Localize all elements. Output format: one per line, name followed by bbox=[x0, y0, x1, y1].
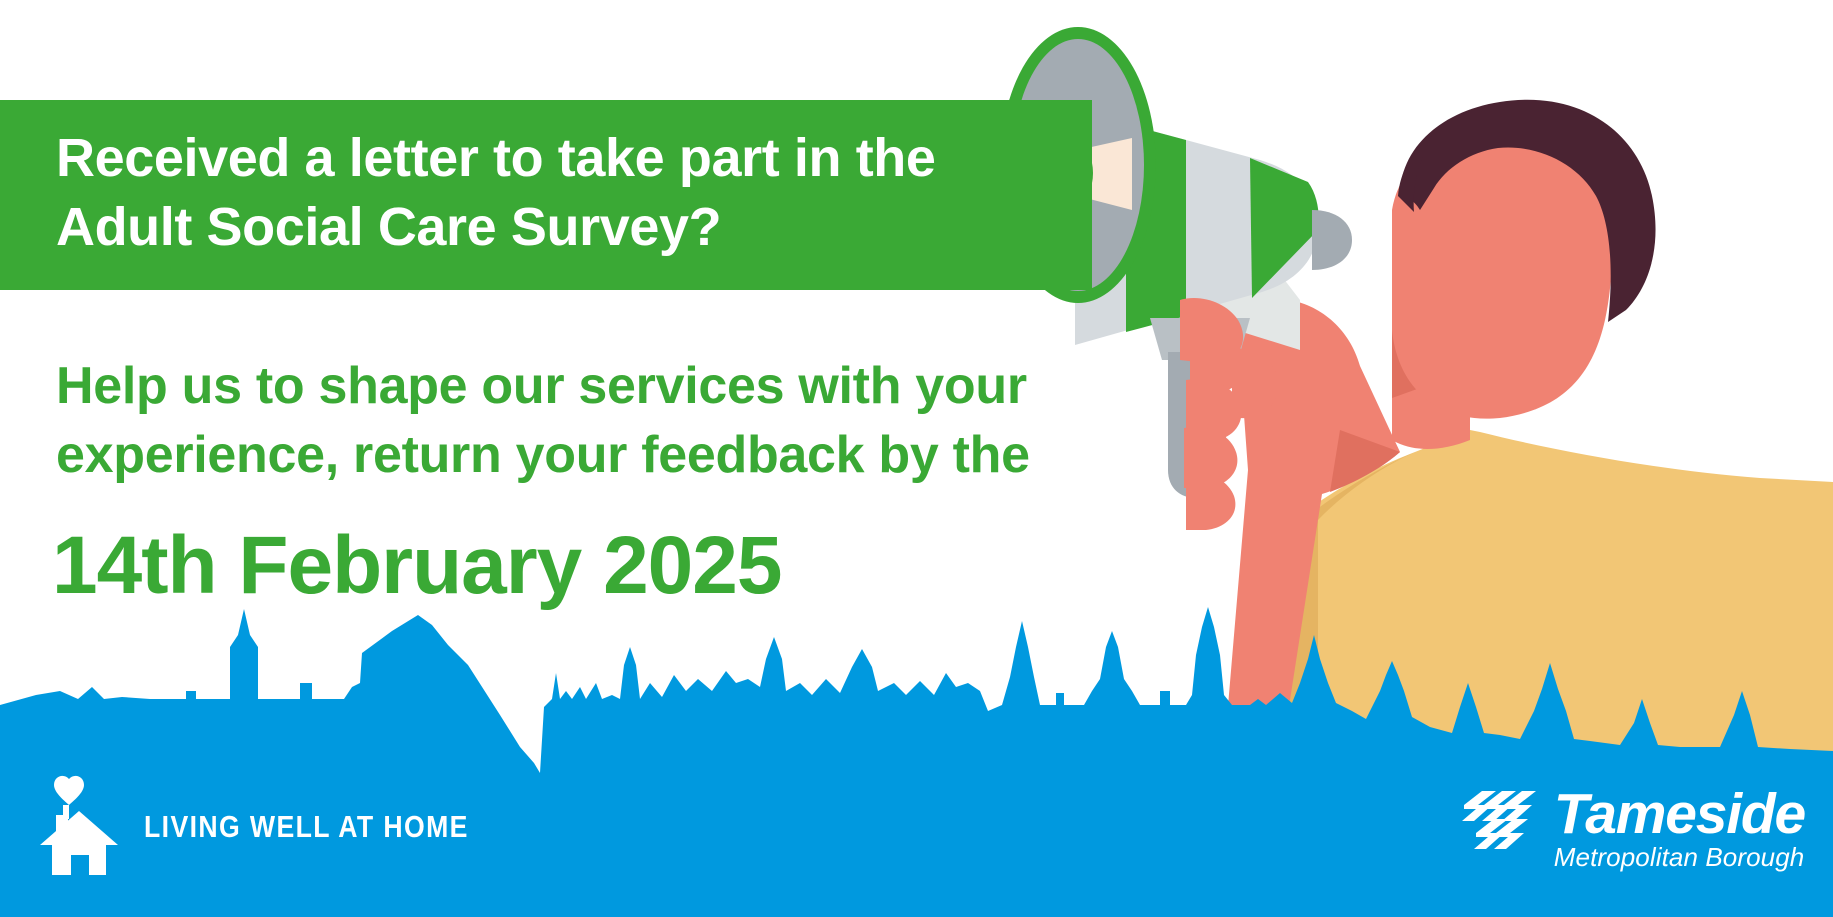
headline-text: Received a letter to take part in the Ad… bbox=[56, 124, 956, 262]
body-copy: Help us to shape our services with your … bbox=[56, 352, 1030, 489]
living-well-at-home-label: LIVING WELL AT HOME bbox=[144, 809, 469, 845]
living-well-at-home-logo: LIVING WELL AT HOME bbox=[38, 775, 522, 879]
tameside-council-logo: Tameside Metropolitan Borough bbox=[1462, 787, 1805, 873]
adult-social-care-survey-banner: Received a letter to take part in the Ad… bbox=[0, 0, 1833, 917]
deadline-date: 14th February 2025 bbox=[52, 525, 782, 607]
headline-line-1: Received a letter to take part in the bbox=[56, 124, 956, 193]
headline-line-2: Adult Social Care Survey? bbox=[56, 193, 956, 262]
heart-shape bbox=[54, 776, 84, 805]
tameside-name: Tameside bbox=[1554, 787, 1805, 841]
megaphone-nozzle bbox=[1312, 210, 1352, 270]
house-with-heart-icon bbox=[38, 775, 120, 879]
zigzag-chevron-icon bbox=[1462, 791, 1540, 863]
body-line-1: Help us to shape our services with your bbox=[56, 352, 1030, 421]
tameside-subtitle: Metropolitan Borough bbox=[1554, 843, 1805, 873]
house-door bbox=[71, 855, 89, 875]
body-line-2: experience, return your feedback by the bbox=[56, 421, 1030, 490]
tameside-wordmark: Tameside Metropolitan Borough bbox=[1554, 787, 1805, 873]
